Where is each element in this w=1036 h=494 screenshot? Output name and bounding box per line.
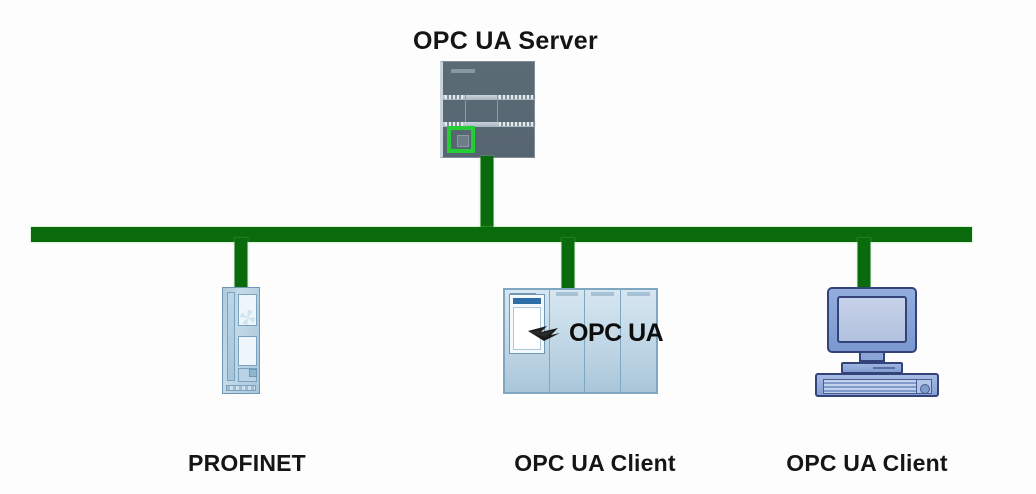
rack-module-3-notch: [591, 292, 614, 296]
opcua-client-pc-device[interactable]: [815, 287, 939, 397]
bus-drop-profinet: [235, 238, 248, 290]
bus-drop-opcua-client-pc: [858, 238, 871, 290]
plc-highlighted-module-port: [457, 135, 469, 147]
drive-side-rail: [227, 292, 235, 381]
label-opcua-client-pc: OPC UA Client: [786, 450, 947, 477]
plc-terminal-strip-bottom-right: [499, 122, 536, 126]
pc-screen: [837, 296, 907, 343]
label-opcua-client-plc: OPC UA Client: [514, 450, 675, 477]
plc-module-divider-2: [497, 95, 498, 122]
pc-keyboard-numpad: [916, 379, 932, 394]
plc-terminal-strip-top-left: [445, 95, 463, 99]
diagram-canvas: OPC UA Server: [0, 0, 1036, 494]
hmi-title-bar: [513, 298, 541, 304]
label-profinet: PROFINET: [188, 450, 306, 477]
pc-base-slot: [873, 367, 895, 369]
plc-module-divider-1: [465, 95, 466, 122]
opc-ua-swoosh-icon: [527, 320, 567, 346]
pc-monitor-neck: [859, 353, 885, 362]
opc-ua-server-plc[interactable]: [440, 61, 535, 158]
bus-drop-server: [481, 156, 494, 230]
bus-drop-opcua-client-plc: [562, 238, 575, 290]
pc-monitor: [827, 287, 917, 353]
pc-keyboard-keys: [823, 379, 917, 394]
drive-connector-port: [249, 369, 257, 377]
drive-terminal-block: [226, 385, 256, 391]
drive-lower-panel: [238, 336, 257, 366]
plc-terminal-strip-top-right: [499, 95, 536, 99]
pc-keyboard: [815, 373, 939, 397]
drive-fan-icon: [240, 310, 255, 325]
plc-highlighted-module[interactable]: [447, 126, 475, 153]
opc-ua-logo: OPC UA: [527, 320, 663, 346]
rack-module-2-notch: [556, 292, 579, 296]
rack-module-4-notch: [627, 292, 650, 296]
network-bus-line: [31, 227, 972, 242]
profinet-drive-device[interactable]: [222, 287, 260, 394]
opc-ua-logo-text: OPC UA: [569, 321, 663, 346]
page-title: OPC UA Server: [413, 27, 598, 56]
plc-brand-mark: [451, 69, 475, 73]
